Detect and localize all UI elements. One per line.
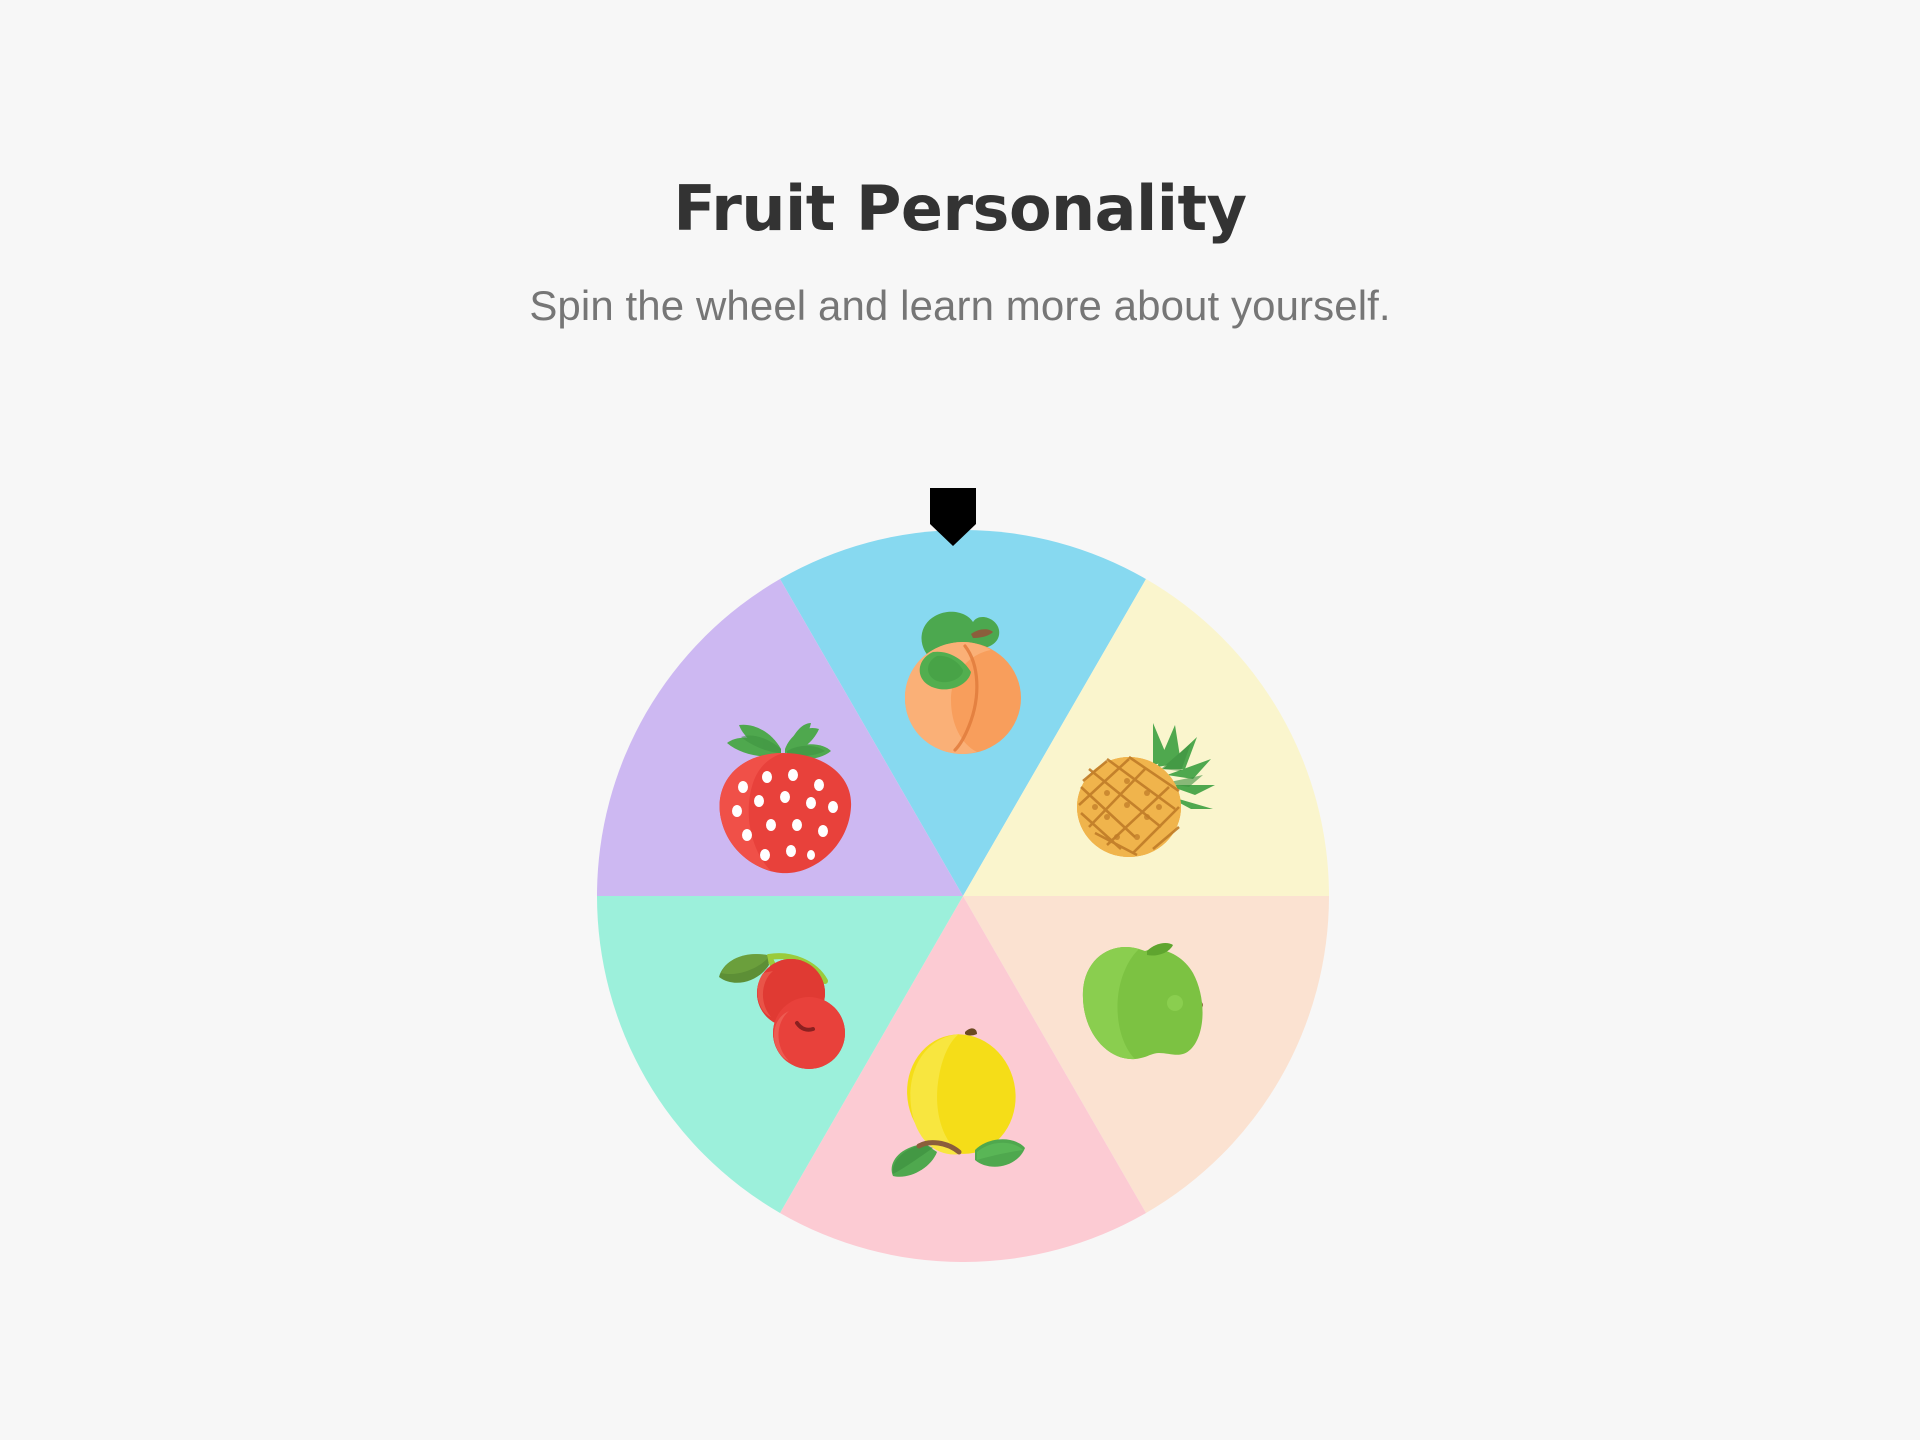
spin-wheel[interactable] <box>597 530 1329 1262</box>
page-title: Fruit Personality <box>0 178 1920 240</box>
wheel-svg[interactable] <box>597 530 1329 1262</box>
fruit-personality-page: Fruit Personality Spin the wheel and lea… <box>0 0 1920 1440</box>
page-header: Fruit Personality Spin the wheel and lea… <box>0 0 1920 333</box>
page-subtitle: Spin the wheel and learn more about your… <box>495 278 1425 333</box>
